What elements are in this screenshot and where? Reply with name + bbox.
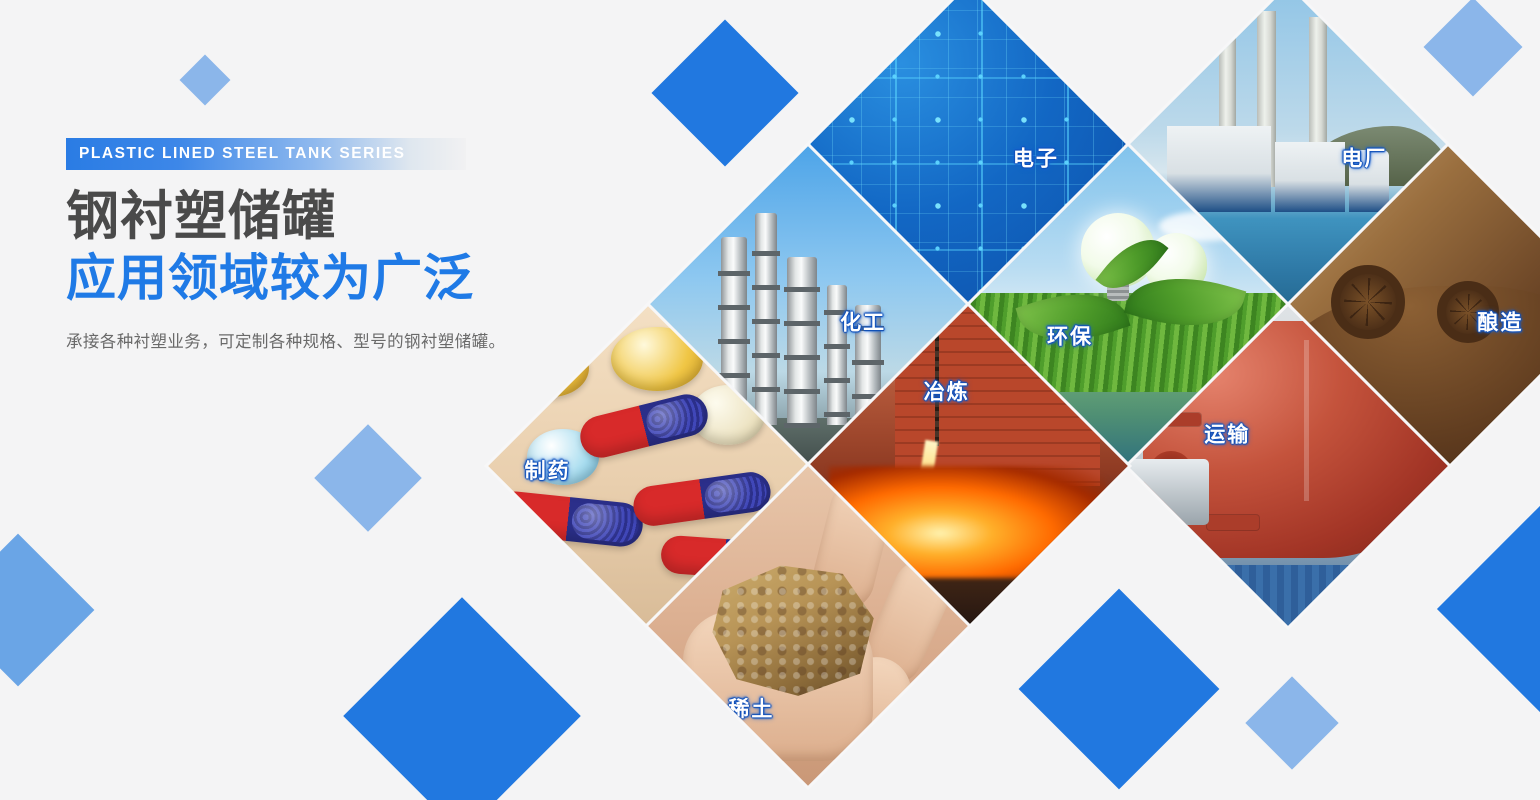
tile-label-brewing: 酿造 [1477,307,1523,337]
refinery-tower [787,257,817,425]
eyebrow-bar: PLASTIC LINED STEEL TANK SERIES [66,138,466,170]
decorative-diamond [1019,589,1220,790]
decorative-diamond [343,597,581,800]
tile-label-smelting: 冶炼 [924,376,970,406]
eyebrow-text: PLASTIC LINED STEEL TANK SERIES [66,145,406,163]
capsule [576,390,712,462]
headline-block: PLASTIC LINED STEEL TANK SERIES 钢衬塑储罐 应用… [66,138,626,352]
decorative-diamond [1424,0,1523,96]
tile-label-chemical: 化工 [840,307,886,337]
page-subtitle: 应用领域较为广泛 [66,251,626,306]
page-title: 钢衬塑储罐 [66,188,626,245]
decorative-diamond [0,534,94,687]
refinery-tower [755,213,777,425]
capsule [631,470,773,529]
plant-building [1275,142,1345,212]
page-description: 承接各种衬塑业务，可定制各种规格、型号的钢衬塑储罐。 [66,328,626,352]
tile-label-power: 电厂 [1341,142,1387,172]
tank-weld-band [1304,340,1309,502]
cart-wheel [1331,265,1405,339]
tile-label-eco: 环保 [1047,321,1093,351]
decorative-diamond [1245,676,1338,769]
tile-label-rare-earth: 稀土 [728,693,774,723]
decorative-diamond [651,19,798,166]
truck-cab [1130,459,1209,525]
tile-label-electronics: 电子 [1013,142,1059,172]
tank-nozzle [1207,515,1259,530]
tile-label-transport: 运输 [1204,418,1250,448]
decorative-diamond [1437,503,1540,715]
promo-banner: 电子 化工 [0,0,1540,800]
capsule [491,489,645,548]
decorative-diamond [314,424,421,531]
plant-building [1167,126,1271,212]
decorative-diamond [180,55,231,106]
tile-label-pharma: 制药 [525,455,571,485]
shipping-container [1128,565,1448,626]
